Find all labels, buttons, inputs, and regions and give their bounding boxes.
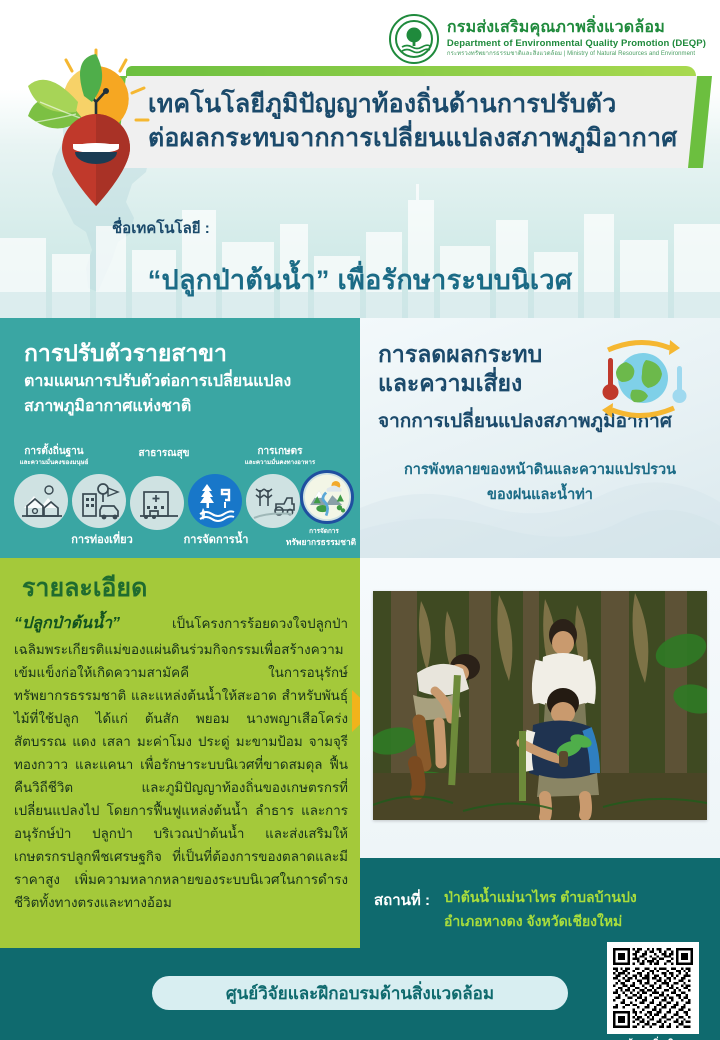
page-title-line2: ต่อผลกระทบจากการเปลี่ยนแปลงสภาพภูมิอากาศ [148,118,677,158]
sector-panel-subheading: ตามแผนการปรับตัวต่อการเปลี่ยนแปลง สภาพภู… [24,370,344,420]
tourism-city-car-icon[interactable] [72,474,126,528]
poster-root: กรมส่งเสริมคุณภาพสิ่งแวดล้อม Department … [0,0,720,1040]
risk-panel-heading: การลดผลกระทบ และความเสี่ยง [378,340,542,399]
footer-text: ศูนย์วิจัยและฝึกอบรมด้านสิ่งแวดล้อม [226,980,494,1007]
detail-text: เป็นโครงการร้อยดวงใจปลูกป่าเฉลิมพระเกียร… [14,616,348,910]
hero-section: กรมส่งเสริมคุณภาพสิ่งแวดล้อม Department … [0,0,720,318]
detail-panel: รายละเอียด “ปลูกป่าต้นน้ำ” เป็นโครงการร้… [0,558,360,948]
sector-label-natural-resource: การจัดการ [278,528,370,535]
natural-resource-mountain-forest-icon[interactable] [300,470,354,524]
location-line2: อำเภอหางดง จังหวัดเชียงใหม่ [444,913,622,929]
sector-sublabel-agriculture: และความมั่นคงทางอาหาร [228,459,332,466]
org-ministry: กระทรวงทรัพยากรธรรมชาติและสิ่งแวดล้อม | … [447,51,706,57]
agriculture-tractor-wheat-icon[interactable] [246,474,300,528]
water-management-tap-river-icon[interactable] [188,474,242,528]
footer-pill: ศูนย์วิจัยและฝึกอบรมด้านสิ่งแวดล้อม [152,976,568,1010]
risk-panel-note: การพังทลายของหน้าดินและความแปรปรวน ของฝน… [360,458,720,509]
deqp-logo: กรมส่งเสริมคุณภาพสิ่งแวดล้อม Department … [389,14,706,64]
location-line1: ป่าต้นน้ำแม่นาไทร ตำบลบ้านปง [444,889,637,905]
risk-panel: การลดผลกระทบ และความเสี่ยง จากการเปลี่ยน… [360,318,720,558]
org-name-en: Department of Environmental Quality Prom… [447,39,706,49]
detail-lead: “ปลูกป่าต้นน้ำ” [14,615,120,632]
tree-water-emblem-icon [389,14,439,64]
risk-note-line2: ของฝนและน้ำท่า [487,487,593,503]
photo-section [360,558,720,858]
sector-panel-heading: การปรับตัวรายสาขา [24,336,227,372]
location-section: สถานที่ : ป่าต้นน้ำแม่นาไทร ตำบลบ้านปง อ… [360,858,720,1040]
location-label: สถานที่ : [374,888,430,912]
sector-icon-row: การตั้งถิ่นฐาน และความมั่นคงของมนุษย์ สา… [0,446,360,558]
sector-label-water: การจัดการน้ำ [158,534,274,547]
sector-label-settlement: การตั้งถิ่นฐาน [2,446,106,458]
sector-subheading-line1: ตามแผนการปรับตัวต่อการเปลี่ยนแปลง [24,373,291,390]
risk-heading-line2: และความเสี่ยง [378,370,522,396]
sector-label-agriculture: การเกษตร [228,446,332,458]
risk-heading-line1: การลดผลกระทบ [378,341,542,367]
globe-thermometer-climate-icon [586,336,698,422]
qr-code-icon[interactable] [607,942,699,1034]
settlement-houses-icon[interactable] [14,474,68,528]
detail-body: “ปลูกป่าต้นน้ำ” เป็นโครงการร้อยดวงใจปลูก… [14,610,348,914]
panels-band: การปรับตัวรายสาขา ตามแผนการปรับตัวต่อการ… [0,318,720,558]
sector-sublabel-natural-resource: ทรัพยากรธรรมชาติ [272,538,370,548]
sector-label-tourism: การท่องเที่ยว [42,534,162,547]
sector-label-health: สาธารณสุข [112,448,216,460]
lightbulb-leaf-map-pin-icon [22,44,170,224]
children-planting-seedlings-photo [373,591,707,820]
sector-panel: การปรับตัวรายสาขา ตามแผนการปรับตัวต่อการ… [0,318,360,558]
sector-subheading-line2: สภาพภูมิอากาศแห่งชาติ [24,398,191,415]
sector-sublabel-settlement: และความมั่นคงของมนุษย์ [2,459,106,466]
risk-note-line1: การพังทลายของหน้าดินและความแปรปรวน [404,462,676,478]
technology-name: “ปลูกป่าต้นน้ำ” เพื่อรักษาระบบนิเวศ [0,258,720,301]
location-value: ป่าต้นน้ำแม่นาไทร ตำบลบ้านปง อำเภอหางดง … [444,885,710,933]
public-health-hospital-icon[interactable] [130,476,184,530]
technology-label: ชื่อเทคโนโลยี : [112,216,210,240]
detail-heading: รายละเอียด [22,568,147,608]
org-name-th: กรมส่งเสริมคุณภาพสิ่งแวดล้อม [447,20,706,37]
qr-caption: ข้อมูลเพิ่มเติม [607,1036,699,1040]
